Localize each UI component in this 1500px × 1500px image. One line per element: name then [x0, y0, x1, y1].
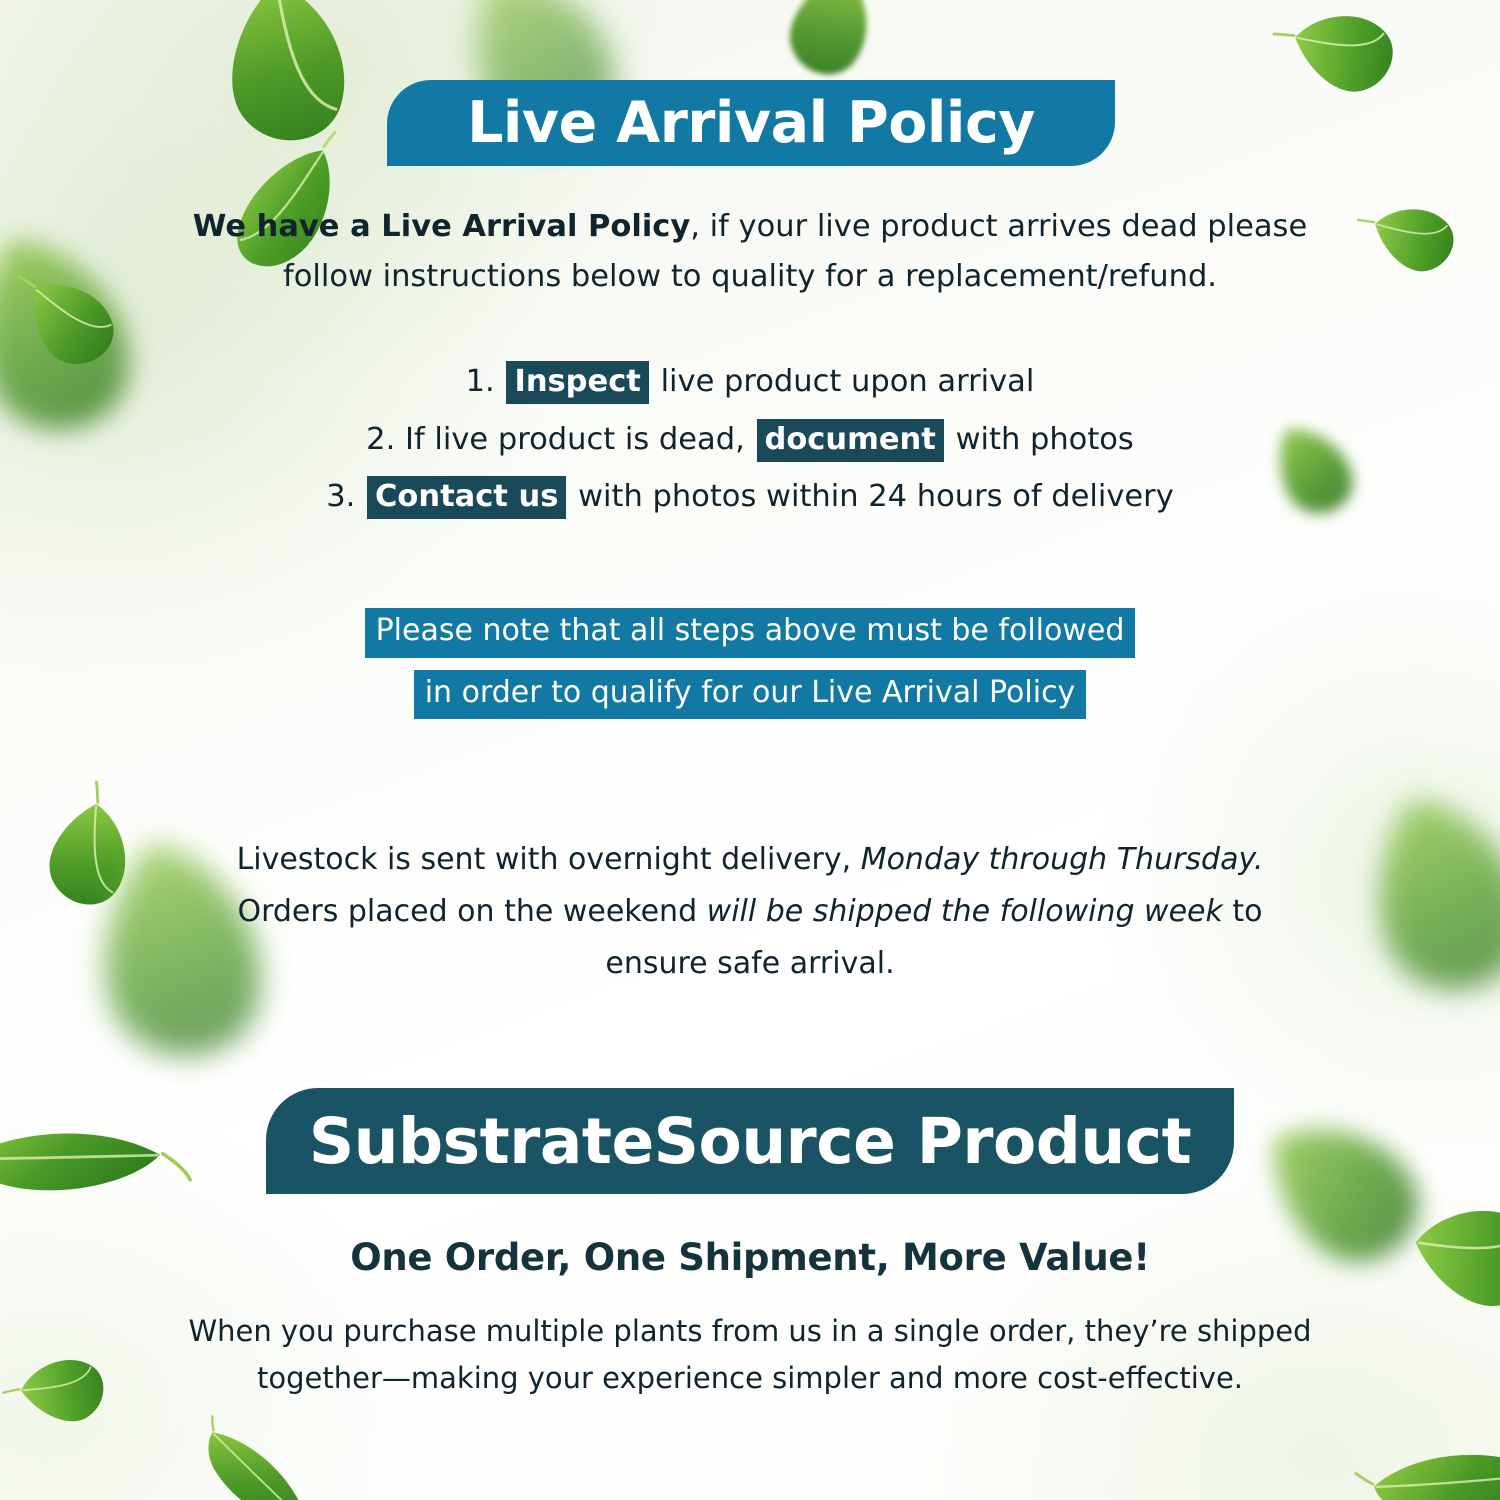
step-text-before: If live product is dead,	[405, 422, 745, 457]
list-item: 1. Inspect live product upon arrival	[0, 362, 1500, 402]
step-text-after: with photos within 24 hours of delivery	[578, 479, 1174, 514]
livestock-text-2: Orders placed on the weekend	[237, 894, 706, 929]
live-arrival-policy-banner: Live Arrival Policy	[387, 80, 1115, 166]
livestock-text-1: Livestock is sent with overnight deliver…	[237, 842, 861, 877]
policy-note-block: Please note that all steps above must be…	[0, 608, 1500, 731]
step-number: 1.	[466, 364, 495, 399]
step-text-after: with photos	[956, 422, 1134, 457]
content-layer: Live Arrival Policy We have a Live Arriv…	[0, 0, 1500, 1500]
steps-list: 1. Inspect live product upon arrival 2. …	[0, 362, 1500, 535]
policy-note-line-2: in order to qualify for our Live Arrival…	[414, 670, 1087, 720]
step-number: 2.	[366, 422, 395, 457]
list-item: 3. Contact us with photos within 24 hour…	[0, 477, 1500, 517]
value-headline: One Order, One Shipment, More Value!	[0, 1236, 1500, 1279]
step-highlight-inspect: Inspect	[506, 361, 648, 404]
intro-paragraph: We have a Live Arrival Policy, if your l…	[0, 202, 1500, 301]
livestock-italic-2: will be shipped the following week	[707, 894, 1223, 929]
livestock-italic-1: Monday through Thursday.	[861, 842, 1264, 877]
substratesource-product-banner: SubstrateSource Product	[266, 1088, 1234, 1194]
step-text-after: live product upon arrival	[661, 364, 1035, 399]
policy-note-row-1: Please note that all steps above must be…	[0, 608, 1500, 658]
livestock-shipping-paragraph: Livestock is sent with overnight deliver…	[0, 834, 1500, 990]
policy-note-row-2: in order to qualify for our Live Arrival…	[0, 670, 1500, 720]
list-item: 2. If live product is dead, document wit…	[0, 420, 1500, 460]
intro-bold-lead: We have a Live Arrival Policy	[193, 209, 690, 244]
step-highlight-document: document	[757, 419, 944, 462]
step-number: 3.	[326, 479, 355, 514]
closing-paragraph: When you purchase multiple plants from u…	[0, 1308, 1500, 1402]
poster-canvas: Live Arrival Policy We have a Live Arriv…	[0, 0, 1500, 1500]
step-highlight-contact-us: Contact us	[367, 476, 566, 519]
policy-note-line-1: Please note that all steps above must be…	[365, 608, 1136, 658]
